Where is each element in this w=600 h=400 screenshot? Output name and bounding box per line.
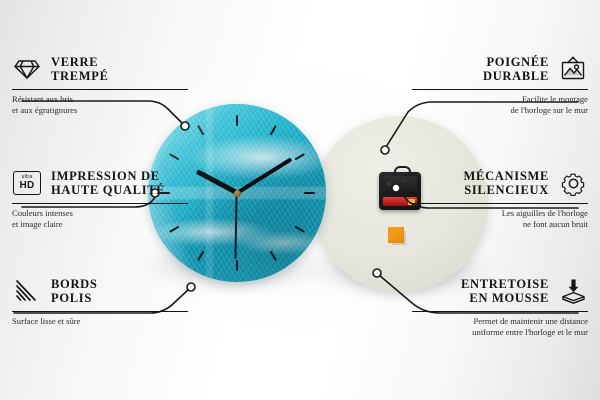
product-feature-infographic: VERRE TREMPÉ Résistant aux bris et aux é… <box>0 0 600 400</box>
feature-header: MÉCANISME SILENCIEUX <box>412 166 588 200</box>
hd-badge-main-text: HD <box>19 181 34 191</box>
framed-picture-hook-icon <box>558 54 588 84</box>
feature-divider <box>412 311 588 312</box>
feature-impression-haute-qualite: ultra HD IMPRESSION DE HAUTE QUALITÉ Cou… <box>12 166 188 229</box>
diagonal-lines-icon <box>12 276 42 306</box>
foam-spacer <box>388 227 404 243</box>
feature-title: IMPRESSION DE HAUTE QUALITÉ <box>51 169 165 197</box>
feature-header: ultra HD IMPRESSION DE HAUTE QUALITÉ <box>12 166 188 200</box>
feature-title: POIGNÉE DURABLE <box>483 55 549 83</box>
feature-header: BORDS POLIS <box>12 274 188 308</box>
gear-icon <box>558 168 588 198</box>
feature-divider <box>12 89 188 90</box>
feature-header: POIGNÉE DURABLE <box>412 52 588 86</box>
feature-title: BORDS POLIS <box>51 277 98 305</box>
feature-title: ENTRETOISE EN MOUSSE <box>461 277 549 305</box>
diamond-icon <box>12 54 42 84</box>
feature-divider <box>12 311 188 312</box>
feature-mecanisme-silencieux: MÉCANISME SILENCIEUX Les aiguilles de l'… <box>412 166 588 229</box>
feature-title: MÉCANISME SILENCIEUX <box>464 169 549 197</box>
feature-title: VERRE TREMPÉ <box>51 55 109 83</box>
feature-header: VERRE TREMPÉ <box>12 52 188 86</box>
feature-divider <box>412 89 588 90</box>
feature-header: ENTRETOISE EN MOUSSE <box>412 274 588 308</box>
feature-entretoise-en-mousse: ENTRETOISE EN MOUSSE Permet de maintenir… <box>412 274 588 337</box>
feature-verre-trempe: VERRE TREMPÉ Résistant aux bris et aux é… <box>12 52 188 115</box>
hd-badge: ultra HD <box>13 171 41 195</box>
arrow-onto-layers-icon <box>558 276 588 306</box>
feature-poignee-durable: POIGNÉE DURABLE Facilite le montage de l… <box>412 52 588 115</box>
feature-divider <box>412 203 588 204</box>
feature-divider <box>12 203 188 204</box>
ultra-hd-icon: ultra HD <box>12 168 42 198</box>
feature-bords-polis: BORDS POLIS Surface lisse et sûre <box>12 274 188 327</box>
